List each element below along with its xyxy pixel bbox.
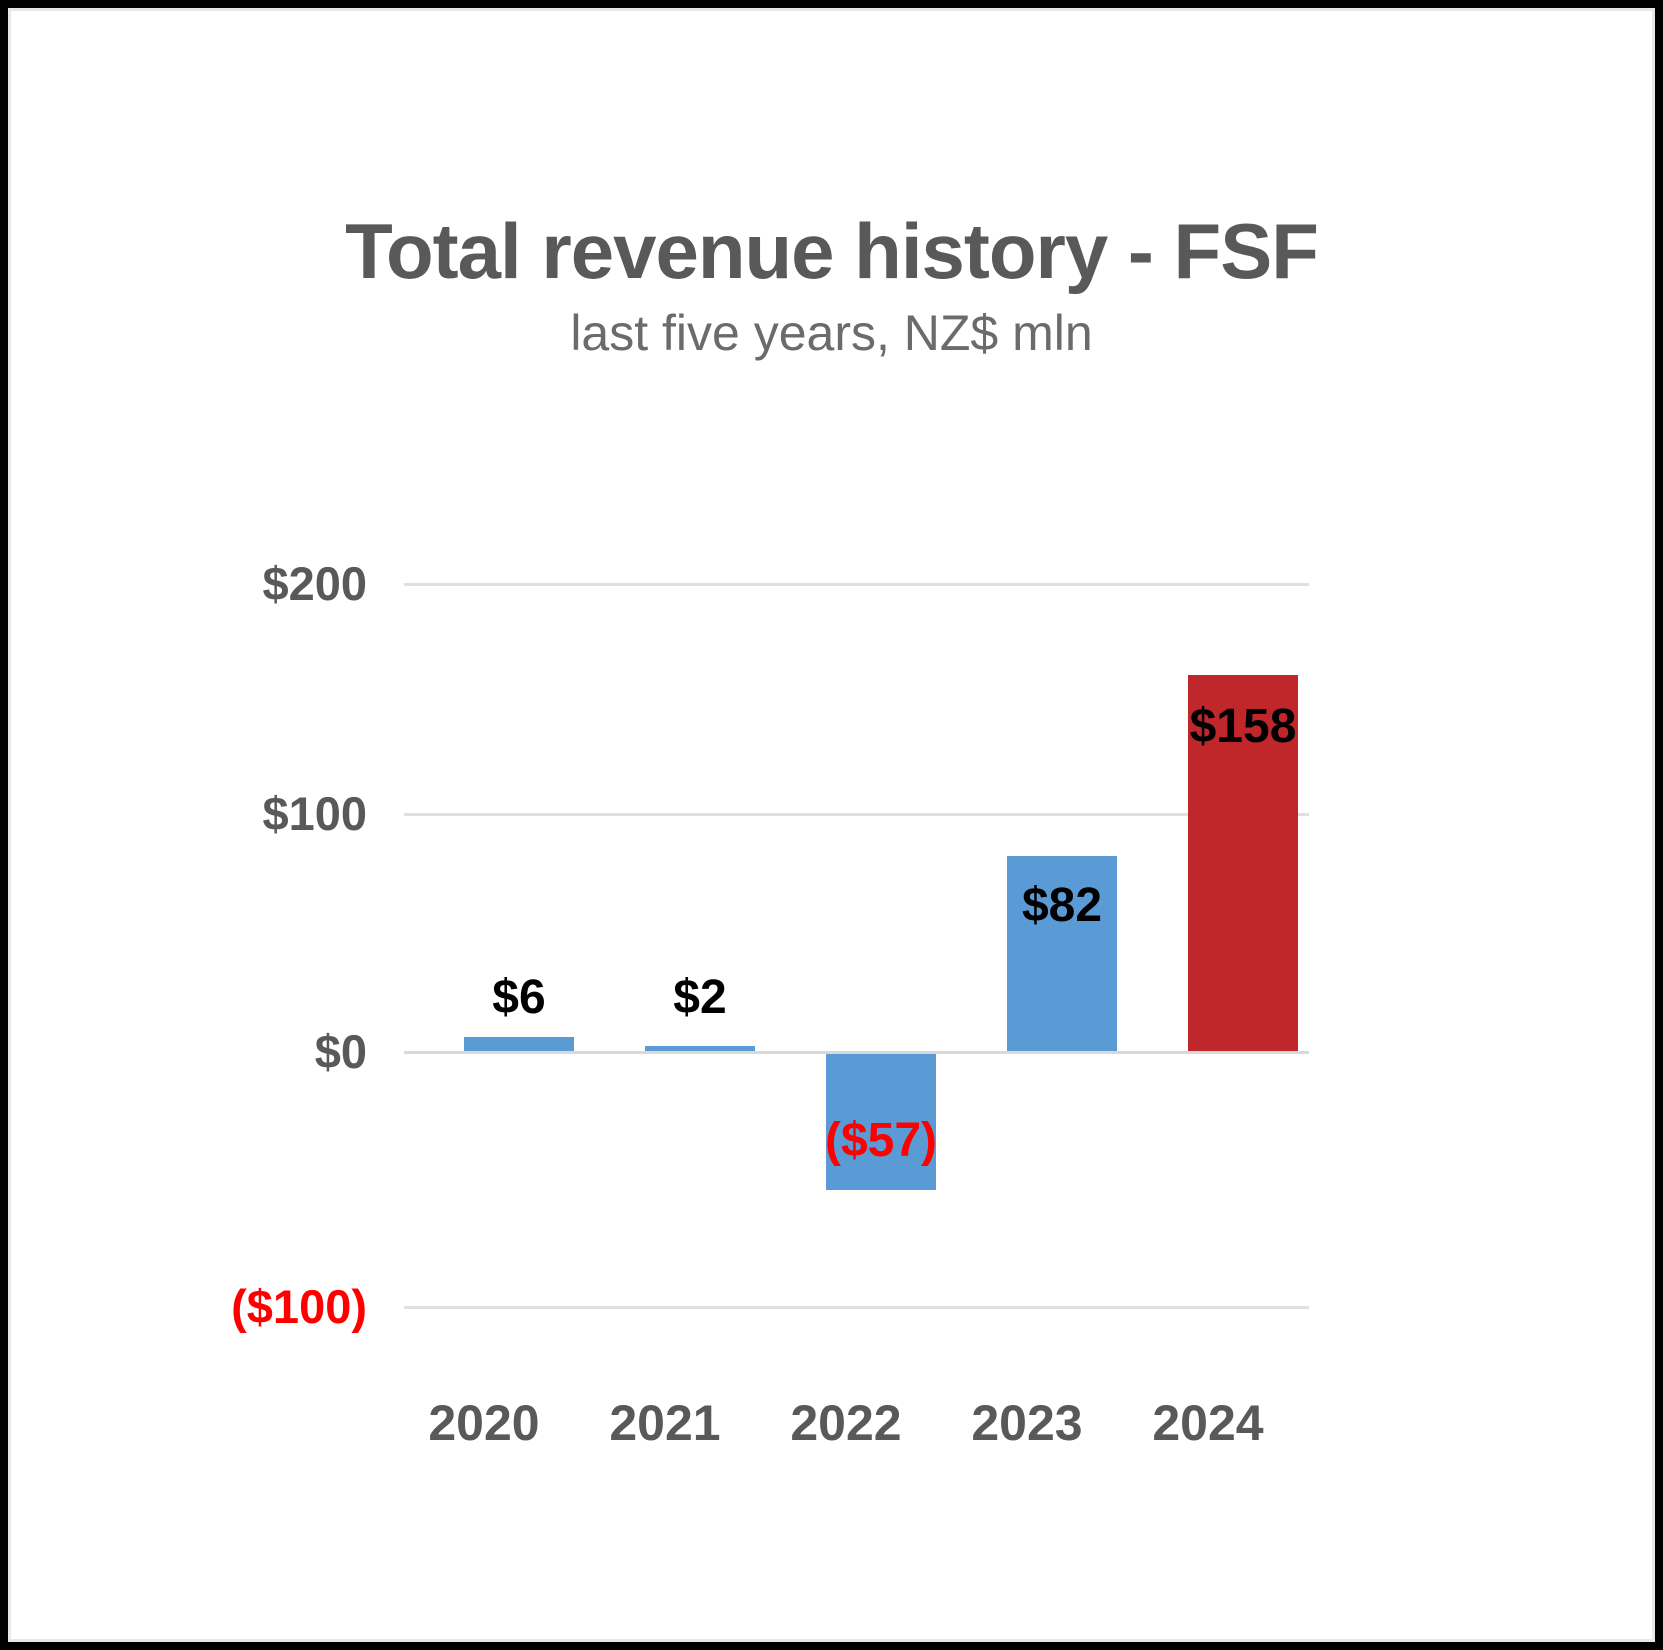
bar-2021 xyxy=(645,1046,755,1051)
y-axis-tick-0: $0 xyxy=(107,1024,367,1079)
data-label-2023: $82 xyxy=(987,878,1137,933)
y-axis-tick-minus-100: ($100) xyxy=(107,1279,367,1334)
y-axis-tick-100: $100 xyxy=(107,786,367,841)
data-label-2021: $2 xyxy=(625,970,775,1025)
x-axis-tick-2024: 2024 xyxy=(1113,1394,1303,1452)
slide-canvas: Total revenue history - FSF last five ye… xyxy=(0,0,1663,1650)
x-axis-tick-2021: 2021 xyxy=(570,1394,760,1452)
title-block: Total revenue history - FSF last five ye… xyxy=(11,211,1652,359)
data-label-2020: $6 xyxy=(444,970,594,1025)
x-axis-tick-2023: 2023 xyxy=(932,1394,1122,1452)
data-label-2024: $158 xyxy=(1168,699,1318,754)
bar-2020 xyxy=(464,1037,574,1051)
gridline-100 xyxy=(404,813,1309,816)
data-label-2022: ($57) xyxy=(806,1113,956,1168)
chart-frame: Total revenue history - FSF last five ye… xyxy=(8,8,1655,1642)
y-axis-tick-200: $200 xyxy=(107,556,367,611)
x-axis-tick-2022: 2022 xyxy=(751,1394,941,1452)
gridline-minus-100 xyxy=(404,1306,1309,1309)
x-axis-tick-2020: 2020 xyxy=(389,1394,579,1452)
chart-subtitle: last five years, NZ$ mln xyxy=(11,307,1652,360)
plot-area: $6 $2 ($57) $82 $158 xyxy=(404,566,1309,1366)
gridline-200 xyxy=(404,583,1309,586)
chart-title: Total revenue history - FSF xyxy=(11,211,1652,293)
